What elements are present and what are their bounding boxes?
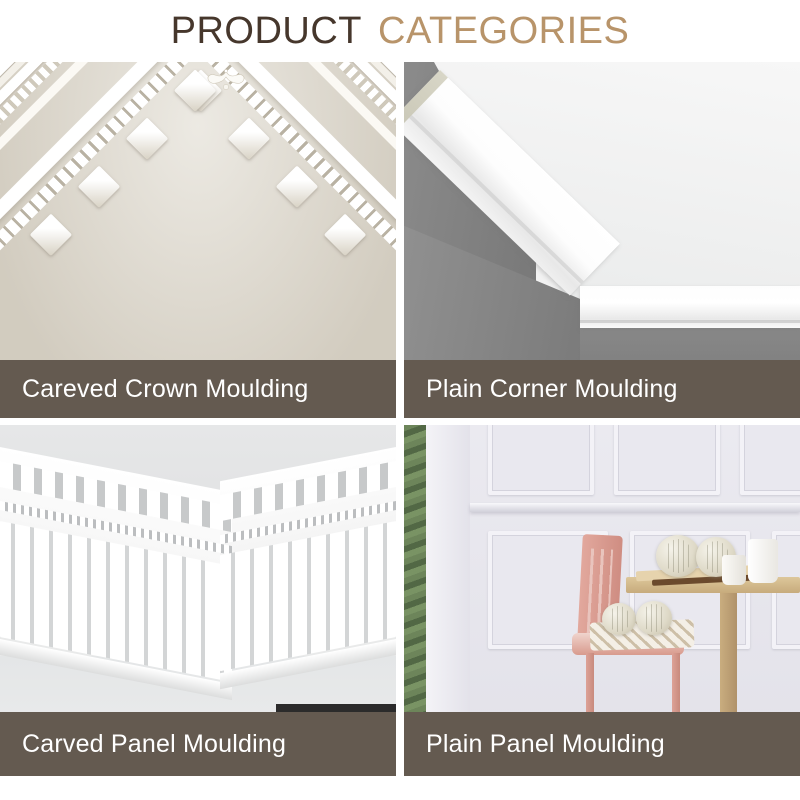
chair-rail-moulding — [470, 503, 800, 512]
category-label-carved-panel-moulding: Carved Panel Moulding — [0, 712, 396, 776]
ceiling-rosette-ornament — [204, 68, 248, 94]
page-title: PRODUCT CATEGORIES — [0, 0, 800, 62]
category-card-plain-panel-moulding[interactable]: Plain Panel Moulding — [404, 425, 800, 776]
category-label-plain-corner-moulding: Plain Corner Moulding — [404, 360, 800, 418]
wall-panel — [740, 425, 800, 495]
category-label-plain-panel-moulding: Plain Panel Moulding — [404, 712, 800, 776]
white-pitcher — [748, 539, 778, 583]
wall-panel — [614, 425, 720, 495]
gourd — [656, 535, 700, 577]
category-card-plain-corner-moulding[interactable]: Plain Corner Moulding — [404, 62, 800, 418]
page-title-accent: CATEGORIES — [378, 12, 629, 50]
category-card-carved-crown-moulding[interactable]: Careved Crown Moulding — [0, 62, 396, 418]
category-card-carved-panel-moulding[interactable]: Carved Panel Moulding — [0, 425, 396, 776]
gourd — [602, 603, 636, 635]
ceramic-cup — [722, 555, 746, 585]
category-grid: Careved Crown Moulding Plain Corner Moul… — [0, 62, 800, 776]
wall-panel — [488, 425, 594, 495]
category-label-carved-crown-moulding: Careved Crown Moulding — [0, 360, 396, 418]
gourd — [636, 601, 672, 635]
cove-moulding-horizontal-run — [580, 286, 800, 328]
page-title-primary: PRODUCT — [171, 12, 362, 50]
table-leg — [720, 593, 737, 723]
